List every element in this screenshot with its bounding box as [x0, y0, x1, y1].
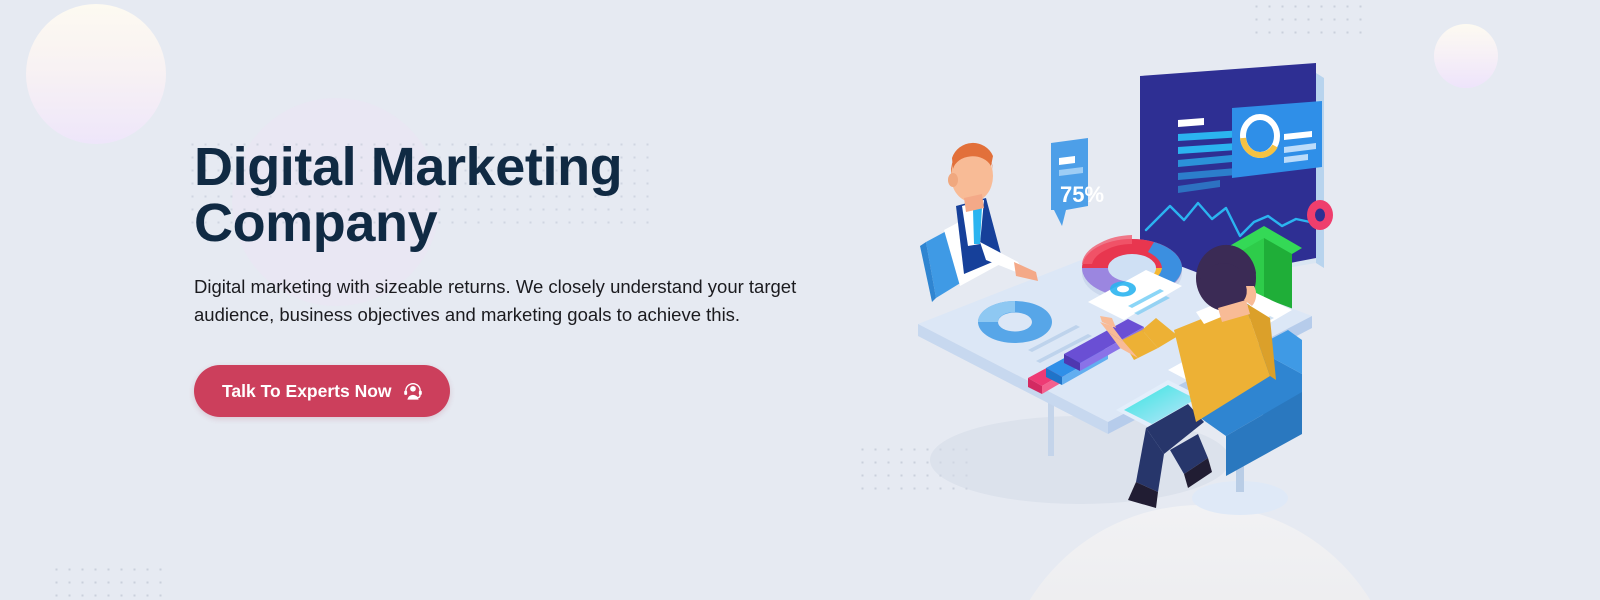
- desk-donut-print: [978, 301, 1052, 343]
- speech-bubble-value: 75%: [1060, 182, 1104, 207]
- illustration-isometric-meeting: 75%: [840, 30, 1560, 550]
- decor-circle-top-left: [26, 4, 166, 144]
- speech-bubble-75: 75%: [1051, 138, 1104, 226]
- decor-dot-grid-bottom-left: [50, 563, 162, 600]
- hero-content: Digital Marketing Company Digital market…: [194, 140, 854, 417]
- hero-description: Digital marketing with sizeable returns.…: [194, 273, 842, 329]
- screen-kpi-card: [1232, 101, 1322, 178]
- cta-label: Talk To Experts Now: [222, 381, 392, 402]
- hero-banner: Digital Marketing Company Digital market…: [0, 0, 1600, 600]
- talk-to-experts-button[interactable]: Talk To Experts Now: [194, 365, 450, 417]
- person-left-presenter: [920, 143, 1038, 302]
- headset-agent-icon: [402, 380, 424, 402]
- line-chart-marker: [1307, 200, 1333, 230]
- page-title: Digital Marketing Company: [194, 140, 854, 251]
